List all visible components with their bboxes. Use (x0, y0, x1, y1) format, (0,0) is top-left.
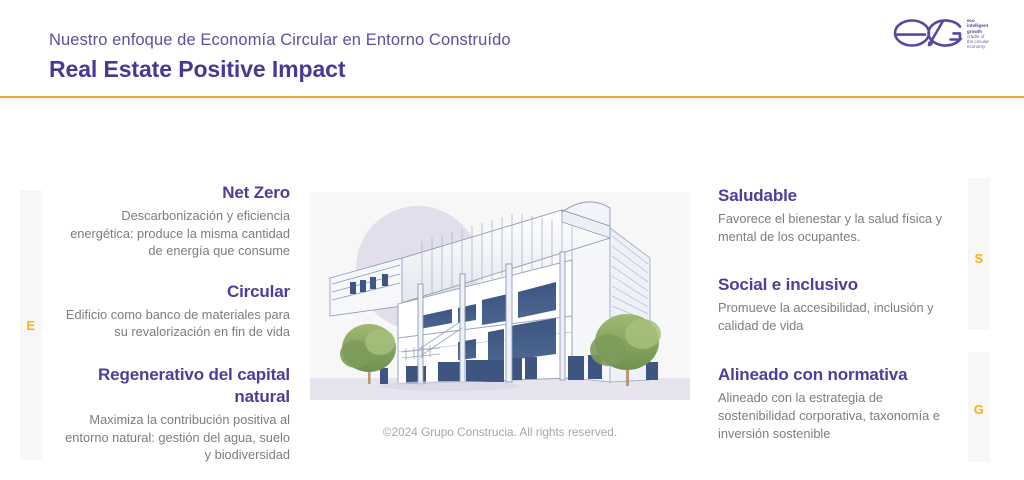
feature-body: Alineado con la estrategia de sostenibil… (718, 389, 956, 442)
feature-title: Alineado con normativa (718, 364, 956, 386)
page-title: Real Estate Positive Impact (49, 54, 511, 84)
building-figure (310, 192, 690, 400)
figure-caption: ©2024 Grupo Construcia. All rights reser… (310, 424, 690, 440)
slide-root: Nuestro enfoque de Economía Circular en … (0, 0, 1024, 480)
brand-logo[interactable]: eco intelligent growth cradle of the cir… (893, 14, 1011, 62)
feature-block-regenerativo: Regenerativo del capital natural Maximiz… (58, 364, 290, 464)
feature-title: Circular (58, 281, 290, 303)
page-header: Nuestro enfoque de Economía Circular en … (0, 0, 1024, 97)
header-text-group: Nuestro enfoque de Economía Circular en … (49, 30, 511, 84)
esg-letter-g: G (974, 402, 984, 417)
logo-line-6: economy (967, 44, 1011, 49)
left-column: Net Zero Descarbonización y eficiencia e… (58, 182, 290, 464)
feature-block-social: Social e inclusivo Promueve la accesibil… (718, 274, 956, 334)
feature-title: Social e inclusivo (718, 274, 956, 296)
esg-marker-governance: G (968, 352, 990, 462)
feature-body: Maximiza la contribución positiva al ent… (58, 411, 290, 464)
building-rendering-image (310, 192, 690, 400)
feature-body: Descarbonización y eficiencia energética… (58, 207, 290, 260)
feature-title: Net Zero (58, 182, 290, 204)
page-kicker: Nuestro enfoque de Economía Circular en … (49, 30, 511, 51)
feature-block-net-zero: Net Zero Descarbonización y eficiencia e… (58, 182, 290, 260)
esg-marker-environmental: E (20, 190, 42, 460)
feature-block-normativa: Alineado con normativa Alineado con la e… (718, 364, 956, 442)
feature-body: Promueve la accesibilidad, inclusión y c… (718, 299, 956, 334)
logo-wordmark: eco intelligent growth cradle of the cir… (967, 18, 1011, 50)
feature-body: Favorece el bienestar y la salud física … (718, 210, 956, 245)
right-column: Saludable Favorece el bienestar y la sal… (718, 182, 956, 442)
feature-block-saludable: Saludable Favorece el bienestar y la sal… (718, 185, 956, 245)
esg-marker-social: S (968, 178, 990, 330)
feature-title: Saludable (718, 185, 956, 207)
eig-logo-icon (893, 16, 963, 55)
header-divider (0, 96, 1024, 98)
esg-letter-e: E (27, 318, 36, 333)
feature-block-circular: Circular Edificio como banco de material… (58, 281, 290, 341)
esg-letter-s: S (975, 251, 984, 266)
feature-title: Regenerativo del capital natural (58, 364, 290, 408)
feature-body: Edificio como banco de materiales para s… (58, 306, 290, 341)
